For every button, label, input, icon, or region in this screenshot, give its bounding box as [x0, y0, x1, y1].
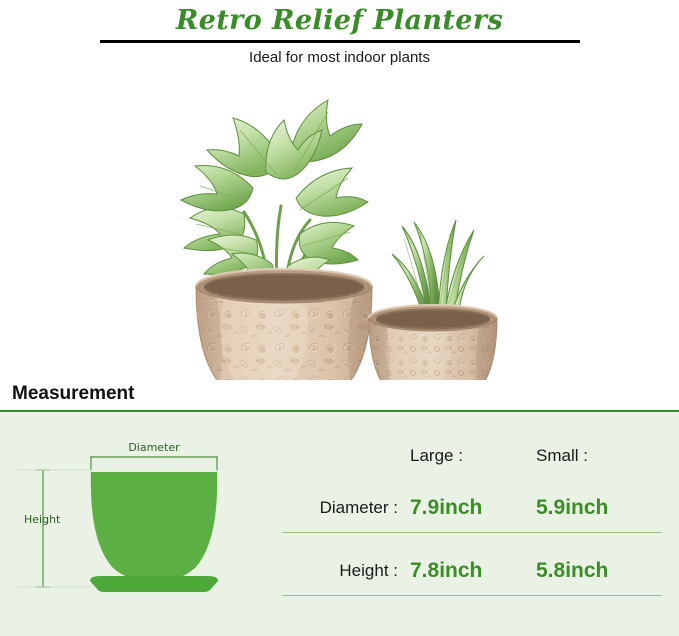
diagram-pot-saucer	[90, 576, 218, 592]
page-title: Retro Relief Planters	[0, 2, 679, 39]
height-bracket	[36, 470, 50, 587]
diameter-large-value: 7.9inch	[410, 496, 536, 520]
diameter-label: Diameter	[128, 441, 180, 454]
height-large-value: 7.8inch	[410, 559, 536, 583]
product-photo-illustration	[0, 68, 679, 380]
diameter-small-value: 5.9inch	[536, 496, 662, 520]
diameter-bracket	[91, 456, 217, 470]
column-header-large: Large :	[410, 446, 536, 470]
measurement-panel: Diameter Height Large : Small :	[0, 412, 679, 636]
table-header-row: Large : Small :	[282, 430, 662, 470]
table-gap	[282, 470, 662, 484]
table-row: Height : 7.8inch 5.8inch	[282, 547, 662, 596]
page-subtitle: Ideal for most indoor plants	[0, 43, 679, 68]
row-label-height: Height :	[282, 561, 410, 581]
product-photo	[0, 68, 679, 380]
table-row: Diameter : 7.9inch 5.9inch	[282, 484, 662, 533]
measurement-table: Large : Small : Diameter : 7.9inch 5.9in…	[282, 430, 662, 596]
column-header-small: Small :	[536, 446, 662, 470]
row-label-diameter: Diameter :	[282, 498, 410, 518]
measurement-heading-area: Measurement	[0, 380, 679, 412]
diagram-pot-body	[91, 472, 217, 582]
table-gap	[282, 533, 662, 547]
header: Retro Relief Planters Ideal for most ind…	[0, 0, 679, 68]
measurement-heading: Measurement	[0, 380, 679, 406]
height-small-value: 5.8inch	[536, 559, 662, 583]
height-label: Height	[24, 513, 60, 526]
